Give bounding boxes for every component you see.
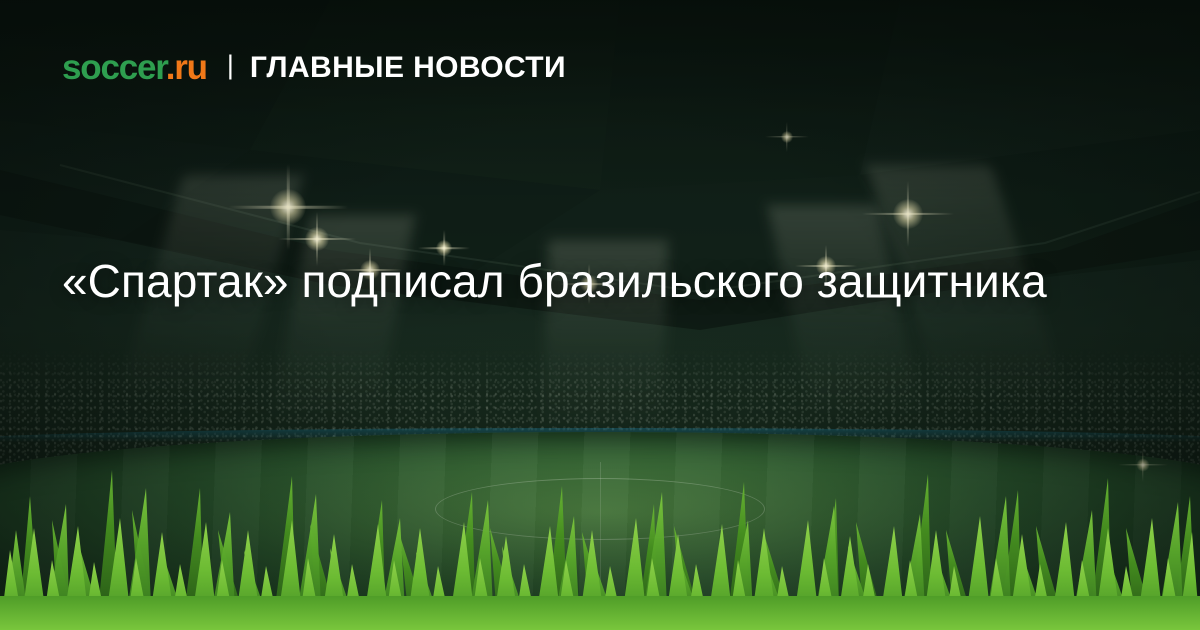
site-logo[interactable]: soccer.ru [62, 50, 207, 85]
news-banner: soccer.ru | ГЛАВНЫЕ НОВОСТИ «Спартак» по… [0, 0, 1200, 630]
foreground-grass [0, 400, 1200, 630]
section-title: ГЛАВНЫЕ НОВОСТИ [250, 53, 566, 83]
header-divider: | [227, 52, 234, 79]
logo-text-suffix: .ru [166, 48, 207, 87]
logo-text-primary: soccer [62, 48, 166, 87]
banner-header: soccer.ru | ГЛАВНЫЕ НОВОСТИ [62, 50, 566, 85]
article-headline: «Спартак» подписал бразильского защитник… [62, 252, 1082, 312]
